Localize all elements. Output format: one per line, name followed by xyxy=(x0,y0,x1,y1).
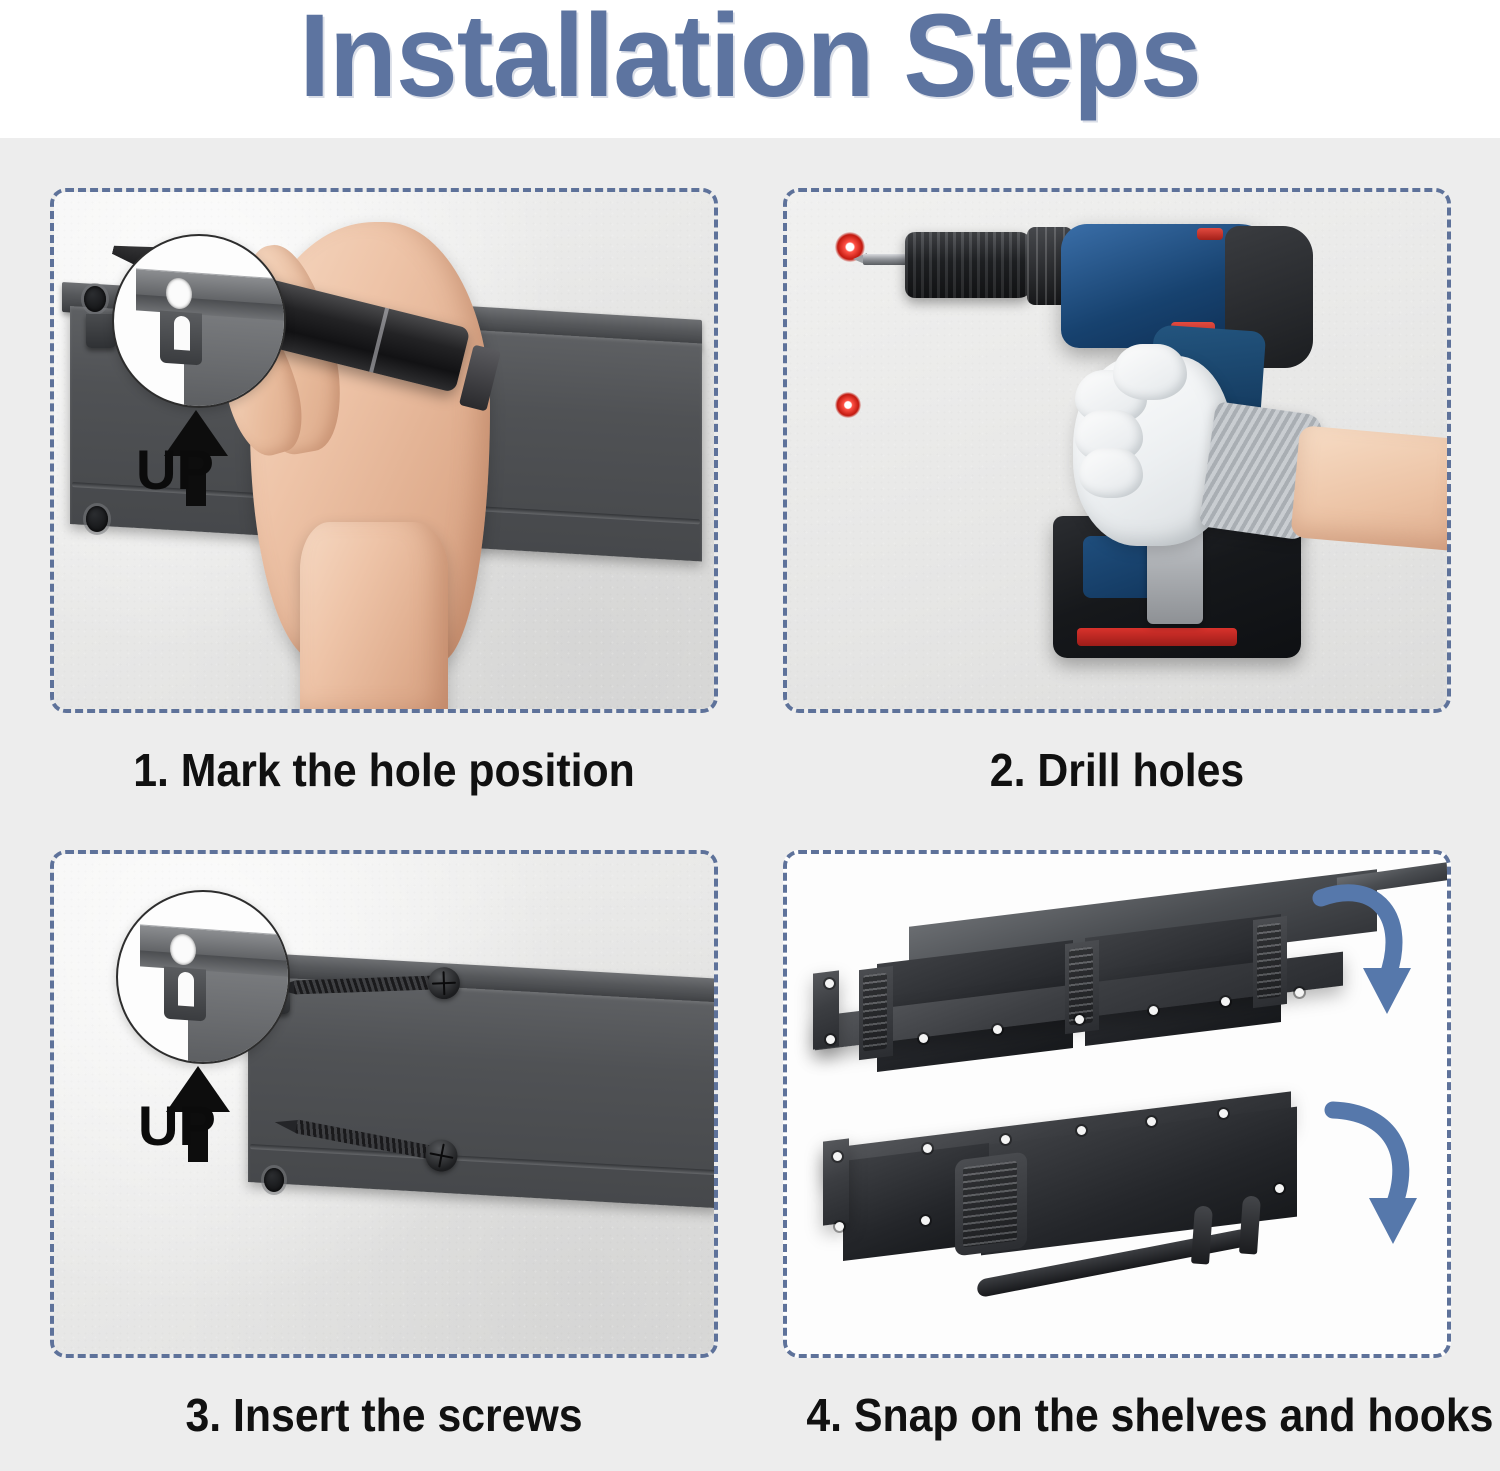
title-band: Installation Steps xyxy=(0,0,1500,138)
magnifier-tab-slot xyxy=(178,972,194,1007)
snap-arrow-bottom xyxy=(1307,1100,1427,1250)
step-1: UP 1. Mark the hole position xyxy=(50,188,718,848)
drill-top-red-tab xyxy=(1197,228,1223,240)
shelf-hole-7 xyxy=(1221,997,1230,1006)
hook-hole-6 xyxy=(1077,1126,1086,1135)
step-1-caption: 1. Mark the hole position xyxy=(73,743,694,797)
screw-bottom-head xyxy=(423,1137,461,1175)
steps-grid: UP 1. Mark the hole position xyxy=(0,138,1500,1471)
chuck-ribs xyxy=(905,232,1033,298)
forearm xyxy=(1290,425,1451,551)
step-3-panel: UP xyxy=(50,850,718,1358)
step-2-scene xyxy=(787,192,1447,709)
shelf-hole-4 xyxy=(993,1025,1002,1034)
rail-hole-bottom xyxy=(264,1168,284,1192)
hook-hole-2 xyxy=(835,1222,844,1231)
shelf-hole-2 xyxy=(826,1035,835,1044)
hook-hole-8 xyxy=(1219,1109,1228,1118)
hook-hole-3 xyxy=(921,1216,930,1225)
glove-thumb xyxy=(1113,344,1187,400)
up-callout: UP xyxy=(116,890,316,1170)
rail-hole-bottom xyxy=(86,506,108,532)
magnifier-icon xyxy=(112,234,286,408)
hook-hole-1 xyxy=(833,1152,842,1161)
magnifier-tab-slot xyxy=(174,316,190,351)
step-4-scene xyxy=(787,854,1447,1354)
hook-prong-2 xyxy=(1239,1195,1261,1254)
magnifier-tab xyxy=(160,311,202,366)
step-3: UP 3. Insert the screws xyxy=(50,850,718,1470)
shelf-hole-3 xyxy=(919,1034,928,1043)
wrist xyxy=(300,522,448,713)
hook-hole-4 xyxy=(923,1144,932,1153)
shelf-bracket-right-ribs xyxy=(1257,923,1281,1000)
shelf-hole-5 xyxy=(1075,1015,1084,1024)
drill-bit xyxy=(863,254,909,265)
step-2-caption: 2. Drill holes xyxy=(806,743,1427,797)
magnifier-tab xyxy=(164,967,206,1022)
glove-finger-3 xyxy=(1079,448,1143,498)
shelf-hole-6 xyxy=(1149,1006,1158,1015)
shelf-hole-1 xyxy=(825,979,834,988)
up-label: UP xyxy=(138,1098,216,1154)
hook-hole-9 xyxy=(1275,1184,1284,1193)
step-4-caption: 4. Snap on the shelves and hooks xyxy=(806,1388,1427,1442)
step-4: 4. Snap on the shelves and hooks xyxy=(783,850,1451,1470)
up-label: UP xyxy=(136,442,214,498)
step-3-caption: 3. Insert the screws xyxy=(73,1388,694,1442)
step-1-scene: UP xyxy=(54,192,714,709)
magnifier-icon xyxy=(116,890,290,1064)
step-2-panel xyxy=(783,188,1451,713)
step-3-scene: UP xyxy=(54,854,714,1354)
step-2: 2. Drill holes xyxy=(783,188,1451,848)
hook-prong-1 xyxy=(1191,1205,1213,1264)
shelf-bracket-mid-ribs xyxy=(1069,947,1093,1026)
step-1-panel: UP xyxy=(50,188,718,713)
page-title: Installation Steps xyxy=(45,0,1455,124)
battery-red-stripe xyxy=(1077,628,1237,646)
hook-hole-5 xyxy=(1001,1135,1010,1144)
marker-ring xyxy=(369,308,389,373)
up-callout: UP xyxy=(112,234,312,514)
shelf-bracket-left-ribs xyxy=(863,973,887,1052)
rail-hole-top xyxy=(84,286,106,312)
hook-hole-7 xyxy=(1147,1117,1156,1126)
drill-chuck xyxy=(905,232,1033,298)
screw-top-head xyxy=(427,967,460,1000)
step-4-panel xyxy=(783,850,1451,1358)
hook-bracket-ribs xyxy=(963,1161,1017,1248)
snap-arrow-top xyxy=(1299,874,1419,1024)
